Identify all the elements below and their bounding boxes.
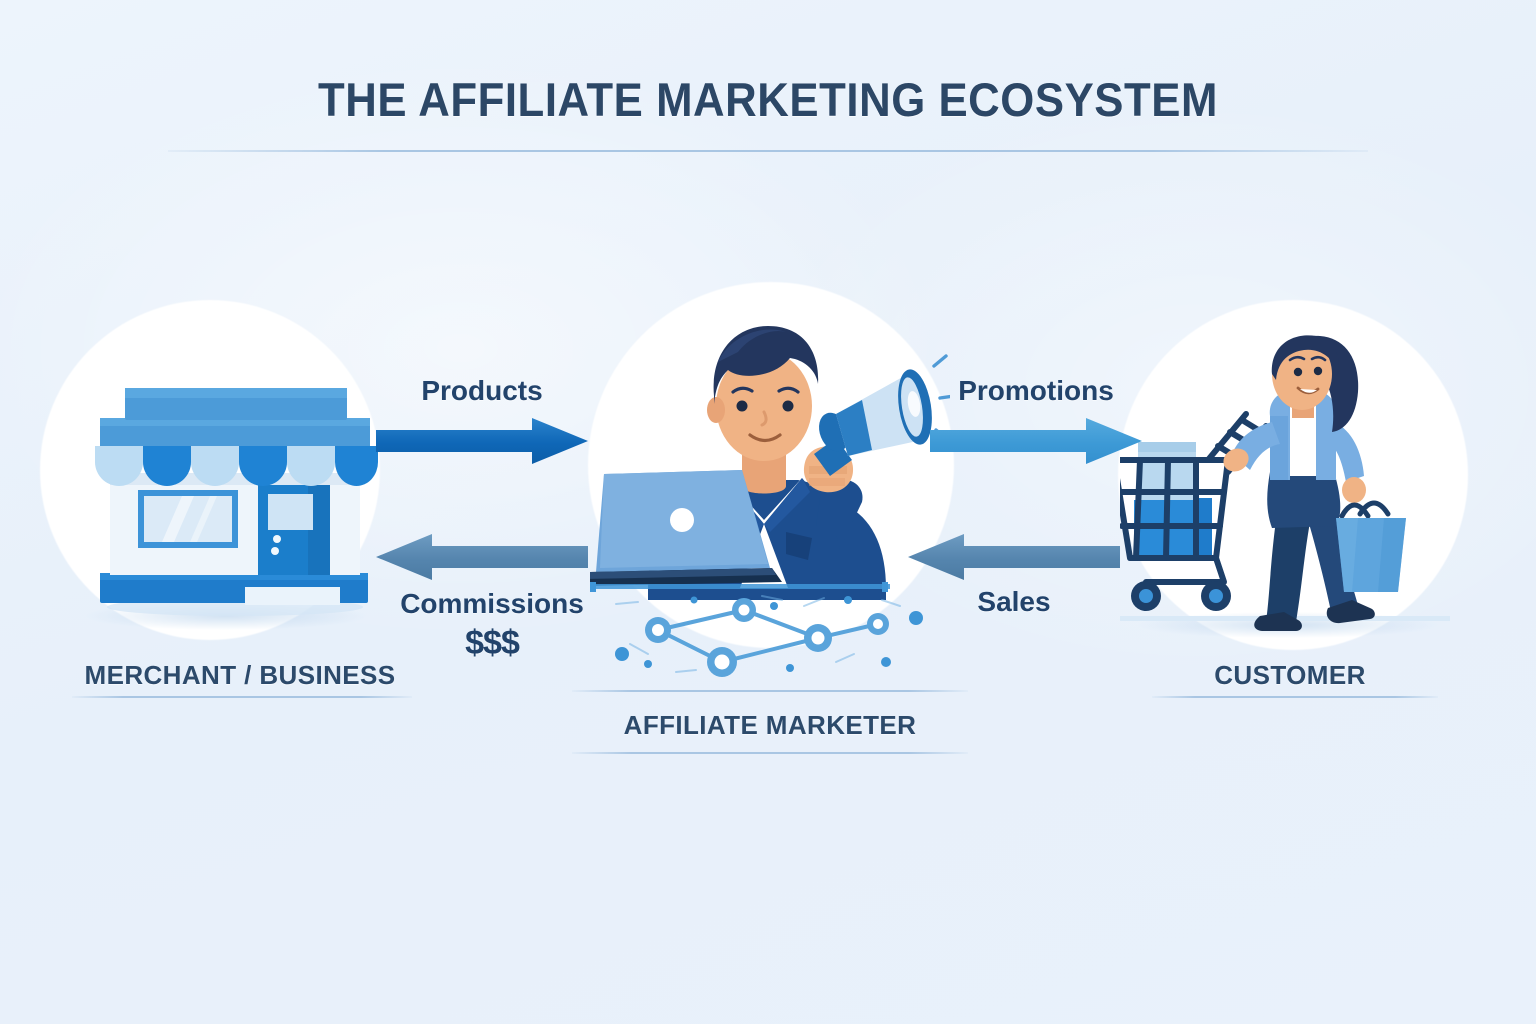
- arrow-promotions: [930, 418, 1142, 464]
- caption-rule-customer: [1152, 696, 1438, 698]
- caption-merchant: MERCHANT / BUSINESS: [60, 660, 420, 691]
- caption-rule-affiliate-top: [572, 690, 968, 692]
- shopper-with-cart-and-bag-icon: [1120, 330, 1470, 640]
- flow-label-promotions: Promotions: [930, 375, 1142, 407]
- caption-affiliate: AFFILIATE MARKETER: [570, 710, 970, 741]
- infographic-canvas: THE AFFILIATE MARKETING ECOSYSTEM: [0, 0, 1536, 1024]
- arrow-products: [376, 418, 588, 464]
- flow-label-commissions: Commissions: [376, 588, 608, 620]
- flow-label-commissions-amount: $$$: [376, 624, 608, 663]
- arrow-commissions: [376, 534, 588, 580]
- flow-label-sales: Sales: [908, 586, 1120, 618]
- network-graphic: [586, 566, 926, 682]
- arrow-sales: [908, 534, 1120, 580]
- flow-label-products: Products: [376, 375, 588, 407]
- title-divider: [168, 150, 1368, 152]
- caption-rule-merchant: [72, 696, 412, 698]
- storefront-icon: [70, 330, 400, 630]
- page-title: THE AFFILIATE MARKETING ECOSYSTEM: [54, 72, 1482, 127]
- caption-customer: CUSTOMER: [1120, 660, 1460, 691]
- caption-rule-affiliate-bottom: [572, 752, 968, 754]
